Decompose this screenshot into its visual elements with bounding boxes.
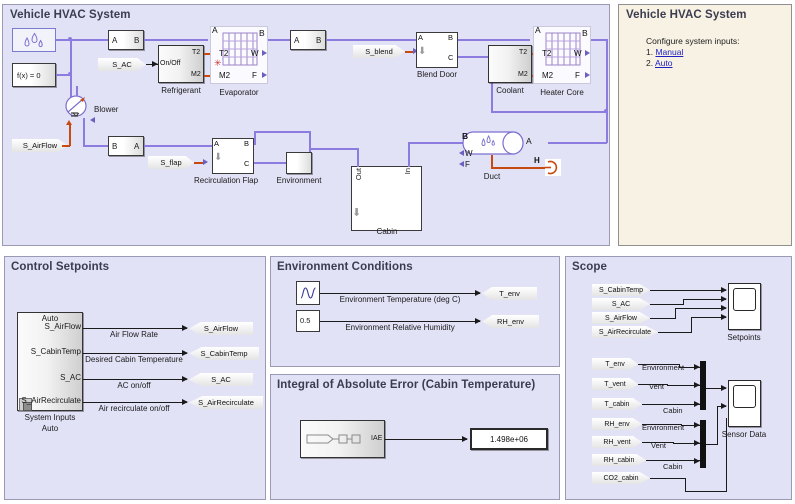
scope-co2-wire-c [685,491,727,492]
blower-block[interactable] [62,94,90,122]
scope-temp-arrow-2 [694,401,700,407]
scope-wire-sp-3b [691,317,692,333]
sensor-data-scope-block[interactable] [728,380,761,427]
wire-sflap-to-flap [194,162,203,164]
duct-label: Duct [484,172,500,181]
evaporator-port-a: A [212,25,218,35]
environment-label: Environment [277,176,322,185]
env-signal-1: Environment Relative Humidity [345,323,454,332]
setpoint-wire-0 [83,328,187,329]
panel-title-note: Vehicle HVAC System [626,9,747,21]
from-tag-s-ac-label: S_AC [98,58,146,71]
note-prompt: Configure system inputs: [646,36,740,47]
scope-temp-tag-1-label: T_vent [592,378,638,390]
env-goto-tag-1-label: RH_env [482,315,539,328]
wire-airflow-2 [69,124,71,146]
iae-display[interactable]: 1.498e+06 [470,428,548,450]
env-signal-0: Environment Temperature (deg C) [340,295,461,304]
recirc-flap-port-a: A [214,139,219,148]
setpoint-signal-1: Desired Cabin Temperature [85,355,183,364]
heater-core-port-f: F [575,71,580,80]
wire-rightbus-to-duct [548,142,607,144]
scope-temp-tag-0-label: T_env [592,358,638,370]
scope-rh-tag-2-label: RH_cabin [592,454,646,466]
wire-duct-h-h [491,167,547,169]
converter-3-port-b: B [112,142,117,151]
wire-blower-to-ba [83,145,108,147]
heater-core-label: Heater Core [540,88,584,97]
goto-tag-3-label: S_AirRecirculate [189,396,263,409]
thermal-reference-icon [545,159,561,176]
wire-evap-to-conv2 [268,39,290,41]
goto-tag-0[interactable]: S_AirFlow [189,322,253,335]
scope-arrow-sp-3 [721,314,727,320]
heater-core-port-b: B [582,28,588,38]
wire-blenddoor-b [458,39,530,41]
recirc-flap-port-b: B [244,139,249,148]
goto-tag-3[interactable]: S_AirRecirculate [189,396,263,409]
blend-door-port-a: A [418,33,423,42]
wire-blower-top [76,86,78,96]
wire-blenddoor-c-1 [458,56,492,58]
goto-tag-1-label: S_CabinTemp [189,347,259,360]
port-marker-heater-f [585,72,590,78]
scope-temp-tag-1[interactable]: T_vent [592,378,638,390]
scope-wire-sp-2a [650,318,676,319]
note-item-1-num: 1. [646,47,653,57]
env-wire-1 [320,321,480,322]
note-link-manual[interactable]: Manual [655,47,683,57]
cabin-ground-icon: ⬇ [352,208,361,219]
scope-arrow-sp-1 [721,296,727,302]
scope-rh-wire-2a [646,460,660,461]
scope-temp-tag-2-label: T_cabin [592,398,642,410]
solver-label: f(x) = 0 [17,71,41,80]
refrigerant-port-t2: T2 [192,49,200,56]
scope-co2-tag[interactable]: CO2_cabin [592,472,650,484]
setpoints-scope-label: Setpoints [727,333,760,342]
goto-tag-2-label: S_AC [189,373,253,386]
heater-core-port-t2: T2 [542,49,551,58]
converter-2-port-a: A [294,36,299,45]
env-arrow-1 [475,318,481,324]
setpoint-arrow-3 [182,399,188,405]
system-inputs-label: System Inputs [25,413,76,422]
iae-wire [385,439,467,440]
constant-value: 0.5 [300,316,310,325]
iae-subsystem-icon [306,433,368,445]
recirc-flap-icon: ⬇ [214,153,222,163]
scope-rh-wire-1a [642,442,674,443]
scope-wire-sp-0 [650,290,726,291]
panel-title-environment: Environment Conditions [277,261,413,273]
scope-mux-rh-out [706,444,718,445]
blower-label: Blower [94,105,118,114]
env-goto-tag-1[interactable]: RH_env [482,315,539,328]
wire-blower-bottom [83,118,85,145]
droplets-icon [19,32,49,48]
iae-arrow [462,436,468,442]
scope-temp-wire-2a [642,404,658,405]
blend-door-flap-icon: ⬇ [418,47,426,57]
env-goto-tag-0[interactable]: T_env [482,287,537,300]
wire-flap-b-h [254,131,310,133]
duct-port-f: F [465,160,470,169]
evaporator-snowflake-icon: ✳ [214,59,222,68]
setpoint-signal-3: Air recirculate on/off [99,404,170,413]
setpoint-port-1: S_CabinTemp [31,347,81,356]
scope-rh-arrow-1 [694,440,700,446]
scope-wire-sp-1c [683,299,726,300]
wire-moistair-bus [56,39,114,41]
from-tag-s-airflow[interactable]: S_AirFlow [12,139,68,152]
note-link-auto[interactable]: Auto [655,58,673,68]
scope-rh-arrow-2 [694,458,700,464]
wire-cabin-out-h [309,148,358,150]
scope-from-tag-3-label: S_AirRecirculate [592,326,658,338]
evaporator-port-f: F [252,71,257,80]
wire-blenddoor-c-3 [491,111,607,113]
scope-wire-sp-2b [675,308,676,319]
scope-co2-wire-b [685,478,686,492]
cabin-port-out: Out [354,168,363,180]
scope-wire-sp-3a [658,332,692,333]
from-tag-s-airflow-label: S_AirFlow [12,139,68,152]
scope-temp-arrow-1 [694,382,700,388]
heater-core-port-a: A [535,25,541,35]
cabin-port-in: In [403,168,412,174]
scope-temp-label-2: Cabin [663,406,683,415]
scope-rh-tag-2[interactable]: RH_cabin [592,454,646,466]
wire-cabin-in-h [408,142,463,144]
wire-flap-b-up [254,131,256,145]
scope-from-tag-1-label: S_AC [592,298,650,310]
setpoint-signal-2: AC on/off [117,381,150,390]
setpoint-wire-3 [83,402,187,403]
scope-temp-wire-0a [638,364,680,365]
scope-sensor-arrow-1 [721,403,727,409]
from-tag-s-flap-label: S_flap [148,156,194,169]
setpoint-wire-1 [83,353,187,354]
env-goto-tag-0-label: T_env [482,287,537,300]
setpoint-wire-2 [83,379,187,380]
junction-2 [68,72,72,76]
wire-sblend-to-door [405,51,413,53]
env-wire-0 [320,293,480,294]
scope-rh-tag-1[interactable]: RH_vent [592,436,642,448]
scope-rh-tag-0[interactable]: RH_env [592,418,642,430]
temp-mux-block[interactable] [700,361,706,410]
scope-arrow-sp-2 [721,305,727,311]
port-marker-duct-f [459,161,464,167]
scope-from-tag-0[interactable]: S_CabinTemp [592,284,650,296]
heater-core-port-w: W [574,49,582,58]
scope-rh-tag-1-label: RH_vent [592,436,642,448]
blend-door-port-b: B [448,33,453,42]
evaporator-port-b: B [259,28,265,38]
note-item-2: 2. Auto [646,58,673,69]
system-inputs-sub-label: Auto [42,424,58,433]
sine-wave-icon [300,285,317,301]
scope-temp-wire-1a [638,384,668,385]
refrigerant-port-m2: M2 [191,71,201,78]
converter-2-port-b: B [316,36,321,45]
scope-from-tag-3[interactable]: S_AirRecirculate [592,326,658,338]
from-tag-s-ac[interactable]: S_AC [98,58,146,71]
converter-3-port-a: A [134,142,139,151]
scope-mux-rh-up [717,406,718,444]
scope-co2-tag-label: CO2_cabin [592,472,650,484]
scope-wire-sp-2c [675,308,726,309]
note-item-1: 1. Manual [646,47,683,58]
scope-arrow-sp-0 [721,287,727,293]
wire-heater-b-out [591,39,607,41]
wire-cabin-out [357,148,359,167]
setpoint-port-3: S_AirRecirculate [21,396,81,405]
converter-1-port-b: B [134,36,139,45]
scope-from-tag-0-label: S_CabinTemp [592,284,650,296]
junction-1 [68,37,72,41]
scope-from-tag-1[interactable]: S_AC [592,298,650,310]
panel-title-scope: Scope [572,261,607,273]
scope-temp-arrow-0 [694,364,700,370]
blend-door-label: Blend Door [417,70,457,79]
converter-1-port-a: A [112,36,117,45]
duct-port-b: B [462,131,468,141]
wire-ba-to-flap [144,145,212,147]
port-marker-duct-w [459,150,464,156]
setpoint-port-0: S_AirFlow [45,322,81,331]
port-marker-evap-w [262,50,267,56]
from-tag-s-blend[interactable]: S_blend [353,45,405,58]
panel-title-hvac: Vehicle HVAC System [10,9,131,21]
from-tag-s-blend-label: S_blend [353,45,405,58]
panel-title-setpoints: Control Setpoints [11,261,109,273]
scope-sensor-arrow-0 [721,385,727,391]
from-tag-s-flap[interactable]: S_flap [148,156,194,169]
goto-tag-2[interactable]: S_AC [189,373,253,386]
goto-tag-0-label: S_AirFlow [189,322,253,335]
wire-right-bus [606,39,608,143]
coolant-port-m2: M2 [518,71,528,78]
scope-co2-wire-a [650,478,686,479]
scope-temp-tag-0[interactable]: T_env [592,358,638,370]
cabin-label: Cabin [377,227,398,236]
scope-rh-wire-0a [642,424,682,425]
environment-block[interactable] [286,152,312,174]
env-arrow-0 [475,290,481,296]
duct-port-h: H [534,156,540,165]
scope-from-tag-2[interactable]: S_AirFlow [592,312,650,324]
wire-flap-c-env [254,162,286,164]
refrigerant-port-onoff: On/Off [160,60,181,67]
setpoint-arrow-0 [182,325,188,331]
scope-rh-tag-0-label: RH_env [592,418,642,430]
note-item-2-num: 2. [646,58,653,68]
setpoints-scope-screen [733,288,756,311]
recirc-flap-port-c: C [244,159,249,168]
scope-from-tag-2-label: S_AirFlow [592,312,650,324]
heater-core-port-m2: M2 [542,71,553,80]
sensor-data-scope-label: Sensor Data [722,430,766,439]
iae-block-label: IAE [371,435,382,442]
port-marker-flap-in [203,159,208,165]
blower-rotation-port [90,117,95,123]
wire-conv2-to-blenddoor [326,39,416,41]
panel-title-iae: Integral of Absolute Error (Cabin Temper… [277,379,535,391]
simulink-canvas: Vehicle HVAC System f(x) = 0 A B S_AC On… [0,0,795,504]
scope-wire-sp-1a [650,304,684,305]
blend-door-port-c: C [448,53,453,62]
duct-port-a: A [526,136,532,146]
coolant-label: Coolant [496,86,524,95]
setpoint-signal-0: Air Flow Rate [110,330,158,339]
goto-tag-1[interactable]: S_CabinTemp [189,347,259,360]
junction-right-bus [604,109,608,113]
setpoint-port-2: S_AC [60,373,81,382]
scope-rh-arrow-0 [694,422,700,428]
refrigerant-label: Refrigerant [161,86,201,95]
evaporator-port-w: W [251,49,259,58]
wire-conv1-to-evap [144,39,208,41]
evaporator-port-t2: T2 [219,49,228,58]
port-marker-evap-f [262,72,267,78]
sensor-data-scope-screen [733,385,756,408]
scope-temp-tag-2[interactable]: T_cabin [592,398,642,410]
port-marker-heater-w [585,50,590,56]
coolant-port-t2: T2 [519,49,527,56]
evaporator-label: Evaporator [219,88,258,97]
setpoints-scope-block[interactable] [728,283,761,330]
recirculation-flap-label: Recirculation Flap [194,176,258,185]
wire-cabin-in [408,142,410,167]
evaporator-port-m2: M2 [219,71,230,80]
duct-port-w: W [465,149,473,158]
scope-rh-label-2: Cabin [663,462,683,471]
setpoint-arrow-2 [182,376,188,382]
